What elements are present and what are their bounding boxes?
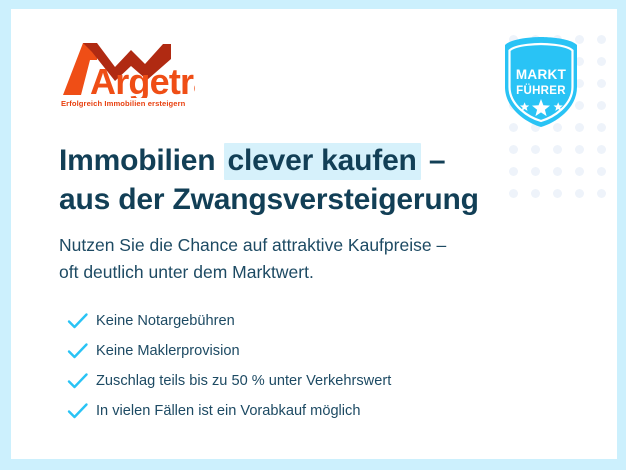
- list-item: Zuschlag teils bis zu 50 % unter Verkehr…: [63, 366, 391, 396]
- promo-banner: Argetra Erfolgreich Immobilien ersteiger…: [0, 0, 626, 470]
- checkmark-icon: [63, 342, 93, 360]
- headline-highlight: clever kaufen: [224, 143, 421, 180]
- headline-part-after: –: [421, 144, 446, 177]
- argetra-roof-a-icon: Argetra: [59, 40, 195, 98]
- shield-badge-icon: MARKT FÜHRER: [499, 35, 583, 129]
- market-leader-badge: MARKT FÜHRER MARKT FÜHRER: [499, 35, 583, 134]
- list-item-label: Zuschlag teils bis zu 50 % unter Verkehr…: [93, 373, 391, 389]
- subtitle-line-1: Nutzen Sie die Chance auf attraktive Kau…: [59, 232, 446, 259]
- subtitle-line-2: oft deutlich unter dem Marktwert.: [59, 259, 446, 286]
- headline-line-1: Immobilien clever kaufen –: [59, 142, 479, 181]
- logo-tagline: Erfolgreich Immobilien ersteigern: [61, 99, 195, 108]
- page-title: Immobilien clever kaufen – aus der Zwang…: [59, 142, 479, 219]
- svg-text:Argetra: Argetra: [90, 61, 195, 98]
- argetra-logo[interactable]: Argetra Erfolgreich Immobilien ersteiger…: [59, 40, 195, 108]
- badge-line1: MARKT: [516, 67, 567, 82]
- list-item-label: Keine Notargebühren: [93, 313, 235, 329]
- headline-part-before: Immobilien: [59, 144, 224, 177]
- banner-canvas: Argetra Erfolgreich Immobilien ersteiger…: [11, 9, 617, 459]
- list-item-label: In vielen Fällen ist ein Vorabkauf mögli…: [93, 403, 360, 419]
- checkmark-icon: [63, 372, 93, 390]
- subtitle: Nutzen Sie die Chance auf attraktive Kau…: [59, 232, 446, 285]
- benefits-list: Keine Notargebühren Keine Maklerprovisio…: [63, 306, 391, 426]
- list-item: In vielen Fällen ist ein Vorabkauf mögli…: [63, 396, 391, 426]
- headline-line-2: aus der Zwangsversteigerung: [59, 181, 479, 220]
- list-item: Keine Maklerprovision: [63, 336, 391, 366]
- list-item-label: Keine Maklerprovision: [93, 343, 240, 359]
- badge-line2: FÜHRER: [516, 84, 566, 97]
- checkmark-icon: [63, 312, 93, 330]
- list-item: Keine Notargebühren: [63, 306, 391, 336]
- checkmark-icon: [63, 402, 93, 420]
